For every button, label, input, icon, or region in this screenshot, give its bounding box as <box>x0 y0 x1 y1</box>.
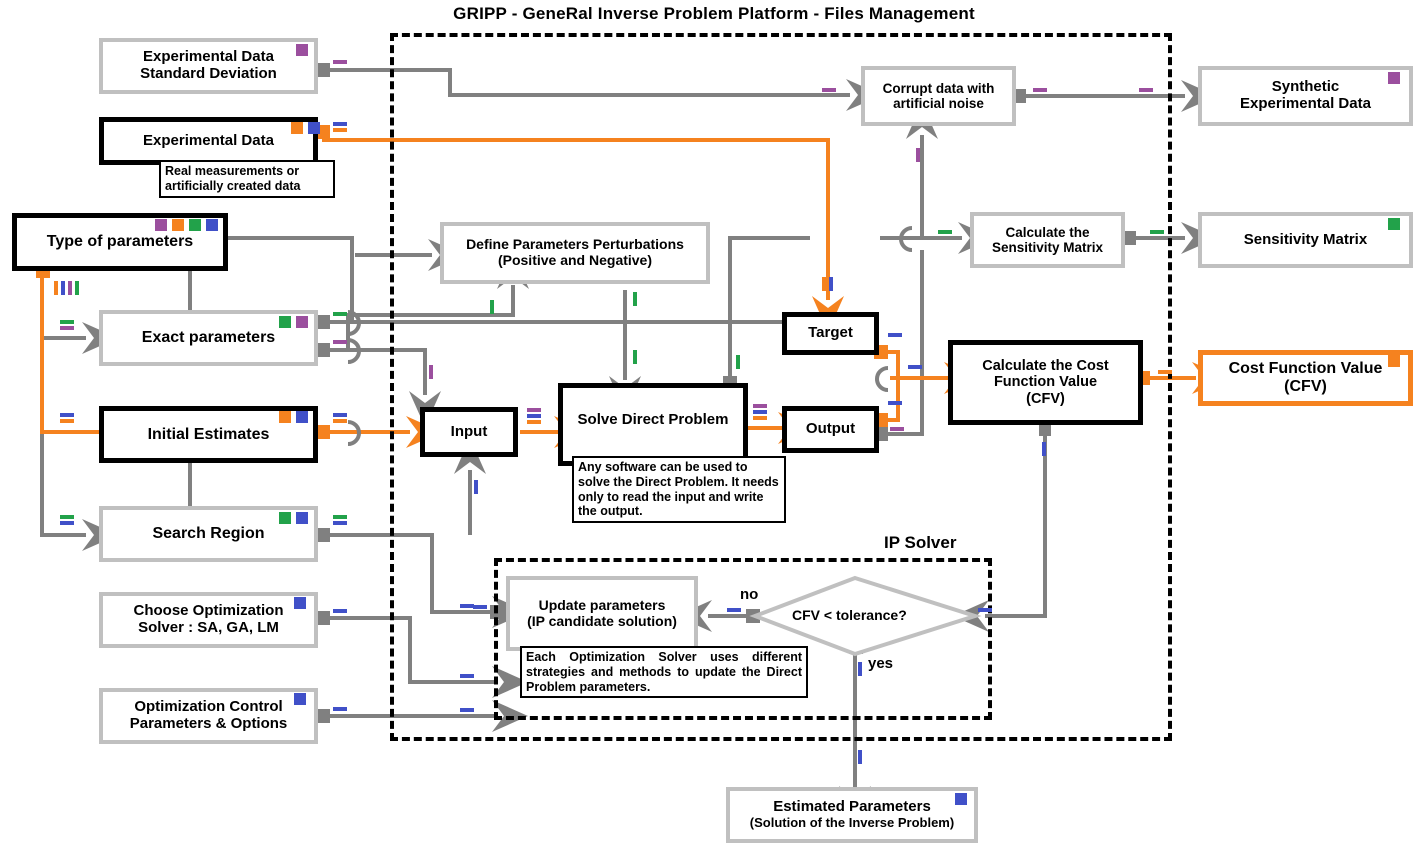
note-experimental-data: Real measurements or artificially create… <box>159 160 335 198</box>
dash-blue <box>474 480 478 494</box>
dash-blue <box>460 674 474 678</box>
wire-tag-cfv-down <box>1042 442 1046 456</box>
dash-blue <box>858 662 862 676</box>
dash-blue <box>858 750 862 764</box>
chip-blue <box>294 597 306 609</box>
box-label-line1: Update parameters <box>539 598 666 614</box>
chip-blue <box>206 219 218 231</box>
box-label-line2: Experimental Data <box>1240 96 1371 113</box>
chip-blue <box>308 122 320 134</box>
wire-tag-target-in <box>822 277 833 291</box>
box-label-line2: (Solution of the Inverse Problem) <box>750 816 954 831</box>
wire-tag-type-rail <box>54 281 79 295</box>
chip-green <box>189 219 201 231</box>
chip-purple <box>1388 72 1400 84</box>
chip-blue <box>296 512 308 524</box>
box-label-line2: (Positive and Negative) <box>498 253 652 269</box>
wire-tag-output-out <box>888 401 902 405</box>
wire-tag-optcontrol-out <box>333 707 347 711</box>
wire-tag-target-out <box>888 333 902 337</box>
chips-initial-estimates <box>279 411 308 423</box>
dash-green <box>60 320 74 324</box>
wire-tag-estimated-in <box>858 750 862 764</box>
wire-tag-sensmatrix-in <box>1150 230 1164 234</box>
wire-tag-cfv-out <box>1158 370 1172 374</box>
chip-blue <box>955 793 967 805</box>
chips-experimental-data-std <box>296 44 308 56</box>
chips-choose-optimization-solver <box>294 597 306 609</box>
wire-tag-update-in <box>473 605 487 609</box>
box-input[interactable]: Input <box>420 407 518 457</box>
box-synthetic-experimental-data[interactable]: Synthetic Experimental Data <box>1198 66 1413 126</box>
dash-purple <box>1139 88 1153 92</box>
box-calculate-sensitivity-matrix[interactable]: Calculate the Sensitivity Matrix <box>970 212 1125 268</box>
wire-tag-cfv-merge <box>908 365 922 369</box>
dash-blue <box>460 604 474 608</box>
ip-solver-label: IP Solver <box>884 533 956 553</box>
dash-purple <box>333 60 347 64</box>
box-optimization-control-parameters[interactable]: Optimization Control Parameters & Option… <box>99 688 318 744</box>
wire-tag-perturb-out-a <box>633 292 637 306</box>
box-label-line2: Function Value <box>994 374 1097 390</box>
box-label-line1: Solve Direct Problem <box>578 412 729 429</box>
dash-orange <box>527 420 541 424</box>
dash-blue <box>888 401 902 405</box>
chips-exact-parameters <box>279 316 308 328</box>
dash-purple <box>429 365 433 379</box>
wire-tag-expstd-out <box>333 60 347 64</box>
box-label-line1: Estimated Parameters <box>773 799 931 816</box>
box-calculate-cost-function-value[interactable]: Calculate the Cost Function Value (CFV) <box>948 340 1143 425</box>
box-update-parameters[interactable]: Update parameters (IP candidate solution… <box>506 576 698 651</box>
box-label-line3: (CFV) <box>1026 391 1065 407</box>
wire-tag-exact-out-lower <box>333 340 347 344</box>
dash-purple <box>60 326 74 330</box>
box-choose-optimization-solver[interactable]: Choose Optimization Solver : SA, GA, LM <box>99 592 318 648</box>
chips-cost-function-value <box>1388 355 1400 367</box>
wire-tag-search-in <box>60 515 74 525</box>
dash-green <box>633 350 637 364</box>
dash-blue <box>727 608 741 612</box>
dash-blue <box>753 410 767 414</box>
wire-tag-ip-in-2 <box>460 674 474 678</box>
box-label-line1: Cost Function Value <box>1229 360 1383 378</box>
wire-tag-search-out <box>333 515 347 525</box>
dash-green <box>490 300 494 314</box>
dash-blue <box>473 605 487 609</box>
note-update-parameters: Each Optimization Solver uses different … <box>520 646 808 698</box>
box-solve-direct-problem[interactable]: Solve Direct Problem <box>558 383 748 466</box>
box-label-line1: Calculate the Cost <box>982 358 1109 374</box>
dash-blue <box>908 365 922 369</box>
dash-purple <box>527 408 541 412</box>
box-label-line1: Input <box>451 424 488 441</box>
wire-tag-solve-out <box>753 404 767 420</box>
wire-tag-input-bottom <box>474 480 478 494</box>
box-label-line2: Standard Deviation <box>140 66 277 83</box>
dash-green <box>633 292 637 306</box>
dash-blue <box>333 521 347 525</box>
dash-green <box>938 230 952 234</box>
chips-optimization-control-parameters <box>294 693 306 705</box>
box-label-line1: Experimental Data <box>143 133 274 150</box>
box-label-line1: Type of parameters <box>47 233 193 251</box>
dash-purple <box>1033 88 1047 92</box>
wire-tag-synthetic-in <box>1139 88 1153 92</box>
wire-tag-solve-riser <box>736 355 740 369</box>
dash-blue <box>978 608 992 612</box>
wire-tag-ip-in-3 <box>460 708 474 712</box>
box-sensitivity-matrix[interactable]: Sensitivity Matrix <box>1198 212 1413 268</box>
dash-blue <box>61 281 65 295</box>
dash-orange <box>753 416 767 420</box>
chip-green <box>279 316 291 328</box>
decision-label: CFV < tolerance? <box>792 607 907 623</box>
dash-blue <box>333 122 347 126</box>
wire-tag-corrupt-riser <box>916 148 920 162</box>
dash-purple <box>68 281 72 295</box>
box-label-line1: Initial Estimates <box>148 426 270 444</box>
box-experimental-data[interactable]: Experimental Data <box>99 117 318 165</box>
chips-sensitivity-matrix <box>1388 218 1400 230</box>
chips-estimated-parameters <box>955 793 967 805</box>
box-label-line1: Synthetic <box>1272 79 1340 96</box>
dash-green <box>333 515 347 519</box>
wire-tag-corrupt-in <box>822 88 836 92</box>
dash-blue <box>829 277 833 291</box>
box-label-line1: Search Region <box>152 525 264 543</box>
box-label-line1: Sensitivity Matrix <box>1244 232 1367 249</box>
box-label-line2: Parameters & Options <box>130 716 288 733</box>
box-corrupt-data[interactable]: Corrupt data with artificial noise <box>861 66 1016 126</box>
dash-orange <box>333 419 347 423</box>
box-label-line1: Output <box>806 421 855 438</box>
dash-blue <box>333 707 347 711</box>
dash-blue <box>60 413 74 417</box>
wire-tag-expdata-out <box>333 122 347 132</box>
box-label-line1: Experimental Data <box>143 49 274 66</box>
dash-orange <box>54 281 58 295</box>
wire-tag-exact-in <box>60 320 74 330</box>
chip-blue <box>296 411 308 423</box>
box-label-line2: (CFV) <box>1284 378 1327 396</box>
diagram-canvas: GRIPP - GeneRal Inverse Problem Platform… <box>0 0 1428 856</box>
wire-tag-output-gray <box>890 427 904 431</box>
box-label-line1: Target <box>808 325 853 342</box>
dash-green <box>75 281 79 295</box>
box-label-line1: Exact parameters <box>142 329 275 347</box>
dash-blue <box>1042 442 1046 456</box>
wire-tag-yes-down <box>858 662 862 676</box>
dash-blue <box>333 413 347 417</box>
dash-green <box>1150 230 1164 234</box>
wire-tag-exact-out-upper <box>333 312 347 316</box>
wire-tag-initial-in <box>60 413 74 423</box>
chip-purple <box>296 44 308 56</box>
box-label-line2: (IP candidate solution) <box>527 614 677 630</box>
chip-purple <box>155 219 167 231</box>
dash-orange <box>1158 370 1172 374</box>
dash-blue <box>460 708 474 712</box>
box-label-line1: Corrupt data with <box>883 81 995 96</box>
dash-green <box>333 312 347 316</box>
dash-orange <box>333 128 347 132</box>
chip-orange <box>279 411 291 423</box>
chips-search-region <box>279 512 308 524</box>
wire-tag-ip-in-1 <box>460 604 474 608</box>
dash-purple <box>822 88 836 92</box>
chips-type-of-parameters <box>155 219 218 231</box>
dash-orange <box>60 419 74 423</box>
wire-tag-solver-out <box>333 609 347 613</box>
branch-yes-label: yes <box>868 655 893 672</box>
dash-green <box>736 355 740 369</box>
chips-synthetic-experimental-data <box>1388 72 1400 84</box>
chip-purple <box>296 316 308 328</box>
box-experimental-data-std[interactable]: Experimental Data Standard Deviation <box>99 38 318 94</box>
dash-blue <box>60 521 74 525</box>
dash-purple <box>333 340 347 344</box>
wire-tag-initial-out <box>333 413 347 423</box>
branch-no-label: no <box>740 586 758 603</box>
wire-tag-decision-no <box>727 608 741 612</box>
chips-experimental-data <box>291 122 320 134</box>
dash-blue <box>888 333 902 337</box>
box-estimated-parameters[interactable]: Estimated Parameters (Solution of the In… <box>726 787 978 843</box>
box-label-line1: Choose Optimization <box>134 603 284 620</box>
box-label-line1: Optimization Control <box>134 699 282 716</box>
wire-tag-calcsens-in <box>938 230 952 234</box>
box-target[interactable]: Target <box>782 312 879 355</box>
chip-orange <box>172 219 184 231</box>
box-label-line2: Sensitivity Matrix <box>992 240 1103 255</box>
chip-blue <box>294 693 306 705</box>
dash-purple <box>890 427 904 431</box>
box-label-line1: Define Parameters Perturbations <box>466 237 684 253</box>
box-cost-function-value[interactable]: Cost Function Value (CFV) <box>1198 350 1413 406</box>
dash-blue <box>527 414 541 418</box>
chip-green <box>279 512 291 524</box>
wire-tag-exact-drop <box>429 365 433 379</box>
chip-orange <box>291 122 303 134</box>
dash-blue <box>333 609 347 613</box>
dash-orange <box>822 277 826 291</box>
wire-tag-corrupt-out <box>1033 88 1047 92</box>
dash-purple <box>916 148 920 162</box>
box-label-line1: Calculate the <box>1005 225 1089 240</box>
wire-tag-input-out <box>527 408 541 424</box>
box-label-line2: artificial noise <box>893 96 984 111</box>
wire-tag-perturb-out-b <box>633 350 637 364</box>
dash-purple <box>753 404 767 408</box>
wire-tag-perturb-in <box>490 300 494 314</box>
chip-green <box>1388 218 1400 230</box>
chip-orange <box>1388 355 1400 367</box>
wire-tag-decision-in <box>978 608 992 612</box>
box-label-line2: Solver : SA, GA, LM <box>138 620 279 637</box>
note-solve-direct-problem: Any software can be used to solve the Di… <box>572 456 786 523</box>
box-define-parameters-perturbations[interactable]: Define Parameters Perturbations (Positiv… <box>440 222 710 284</box>
dash-green <box>60 515 74 519</box>
box-output[interactable]: Output <box>782 406 879 453</box>
